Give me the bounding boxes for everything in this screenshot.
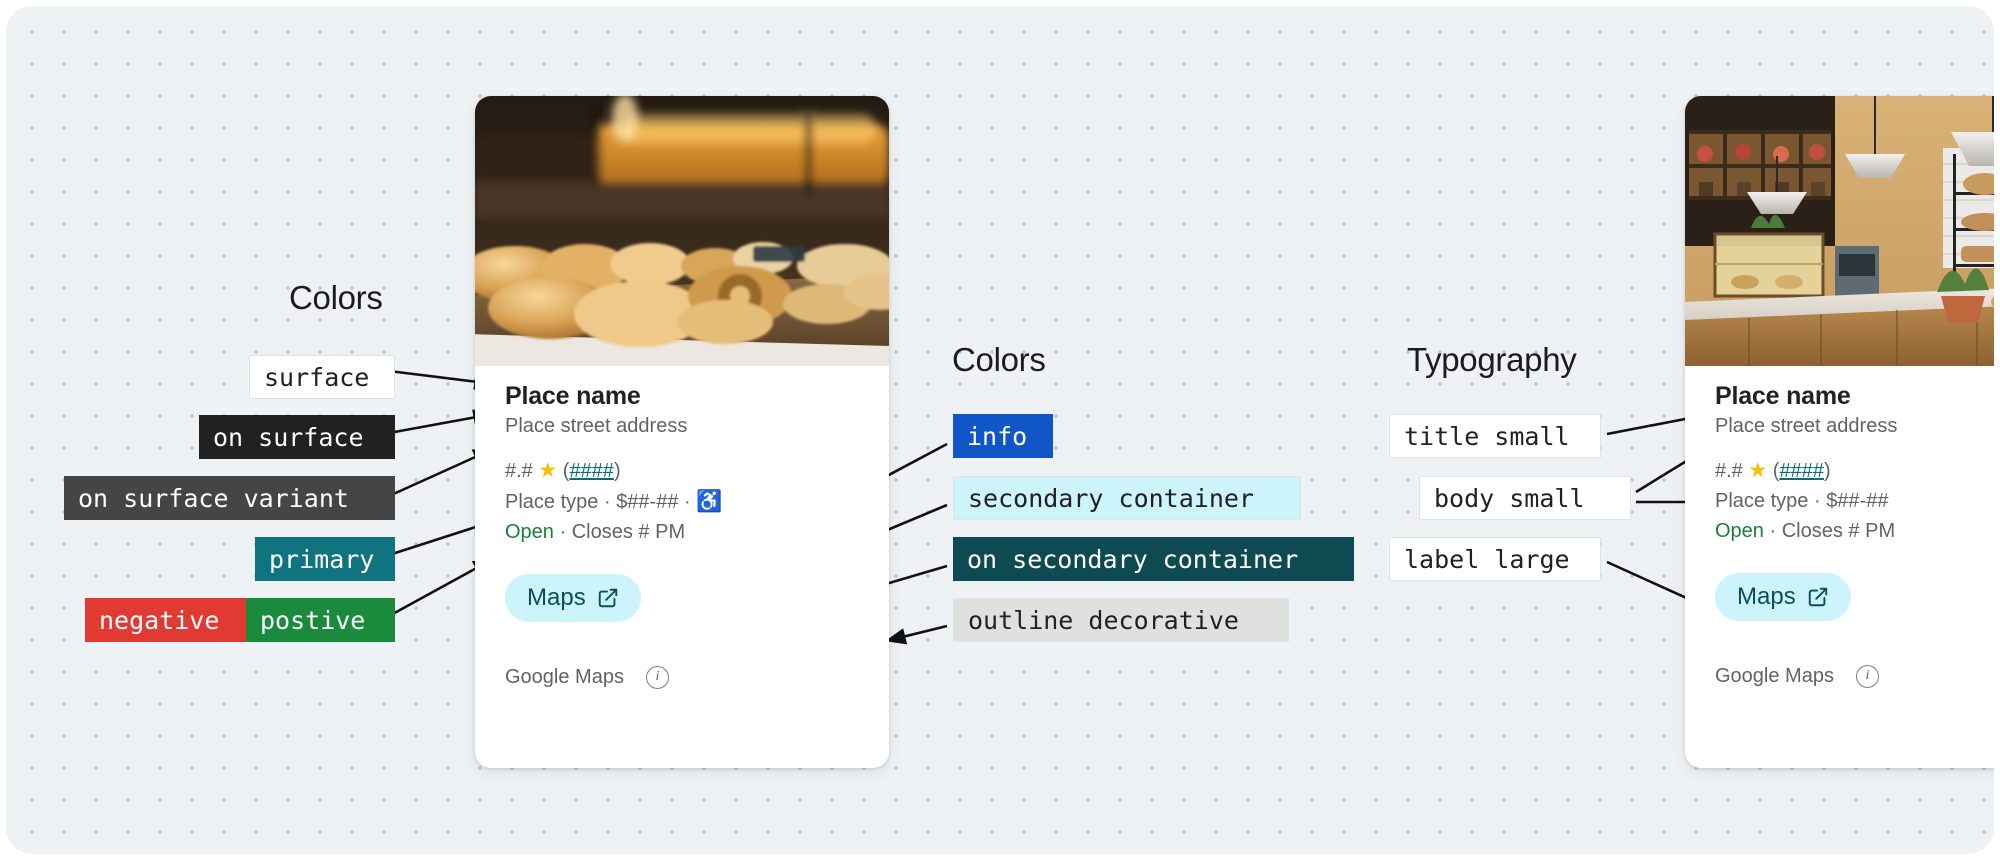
rating-value: #.# — [1715, 460, 1743, 482]
type-token-label: label large — [1404, 547, 1570, 572]
info-circle-icon[interactable]: i — [1856, 665, 1879, 688]
review-count[interactable]: #### — [569, 460, 614, 482]
hours-separator: · — [560, 521, 567, 543]
meta-separator-1: · — [604, 491, 611, 513]
swatch-surface[interactable]: surface — [249, 355, 395, 399]
swatch-label: secondary container — [968, 486, 1254, 511]
swatch-label: info — [967, 424, 1027, 449]
google-maps-attribution: Google Maps — [505, 666, 624, 689]
type-token-body-small[interactable]: body small — [1419, 476, 1631, 520]
type-token-label-large[interactable]: label large — [1389, 537, 1601, 581]
place-type: Place type — [505, 491, 598, 513]
google-maps-attribution: Google Maps — [1715, 665, 1834, 688]
swatch-label: surface — [264, 365, 369, 390]
swatch-label: on surface — [213, 425, 364, 450]
section-title-typography: Typography — [1407, 341, 1576, 379]
screenshot-root: Colors Colors Typography surface on surf… — [0, 0, 2000, 860]
place-meta-row: Place type · $##-## — [1715, 490, 1994, 513]
place-type: Place type — [1715, 490, 1808, 512]
place-card-center[interactable]: Place name Place street address #.# ★ (#… — [475, 96, 889, 768]
arrow-outline-decorative — [886, 626, 947, 641]
open-in-new-icon — [597, 587, 619, 609]
place-street-address: Place street address — [505, 415, 859, 438]
meta-separator-1: · — [1814, 490, 1821, 512]
hours-separator: · — [1770, 520, 1777, 542]
swatch-label: postive — [260, 608, 365, 633]
swatch-postive[interactable]: postive — [246, 598, 395, 642]
star-icon: ★ — [1748, 459, 1767, 482]
maps-button-label: Maps — [1737, 583, 1796, 611]
swatch-outline-decorative[interactable]: outline decorative — [953, 598, 1289, 642]
swatch-secondary-container[interactable]: secondary container — [953, 476, 1301, 520]
card-footer: Google Maps i — [1715, 665, 1994, 688]
closing-time: Closes # PM — [572, 521, 685, 543]
place-photo-cafe: BEBIDAS — [1685, 96, 1994, 366]
type-token-title-small[interactable]: title small — [1389, 414, 1601, 458]
section-title-colors-left: Colors — [289, 279, 383, 317]
price-range: $##-## — [1826, 490, 1888, 512]
swatch-negative[interactable]: negative — [85, 598, 246, 642]
price-range: $##-## — [616, 491, 678, 513]
open-status: Open — [1715, 520, 1764, 542]
type-token-label: title small — [1404, 424, 1570, 449]
rating-value: #.# — [505, 460, 533, 482]
type-token-label: body small — [1434, 486, 1585, 511]
place-card-body: Place name Place street address #.# ★ (#… — [475, 366, 889, 689]
place-street-address: Place street address — [1715, 415, 1994, 438]
open-status: Open — [505, 521, 554, 543]
place-meta-row: Place type · $##-## · ♿ — [505, 490, 859, 514]
swatch-label: primary — [269, 547, 374, 572]
maps-button-label: Maps — [527, 584, 586, 612]
place-photo-bakery — [475, 96, 889, 366]
swatch-label: on secondary container — [967, 547, 1298, 572]
review-paren-close: ) — [614, 460, 621, 482]
place-hours-row: Open · Closes # PM — [1715, 520, 1994, 543]
star-icon: ★ — [538, 459, 557, 482]
place-name: Place name — [1715, 382, 1994, 411]
maps-button[interactable]: Maps — [1715, 573, 1851, 621]
meta-separator-2: · — [684, 491, 691, 513]
place-name: Place name — [505, 382, 859, 411]
review-paren-close: ) — [1824, 460, 1831, 482]
design-canvas: Colors Colors Typography surface on surf… — [6, 6, 1994, 854]
swatch-on-surface[interactable]: on surface — [199, 415, 395, 459]
open-in-new-icon — [1807, 586, 1829, 608]
review-count[interactable]: #### — [1779, 460, 1824, 482]
swatch-label: negative — [99, 608, 219, 633]
place-card-body: Place name Place street address #.# ★ (#… — [1685, 366, 1994, 688]
place-card-right[interactable]: BEBIDAS — [1685, 96, 1994, 768]
swatch-on-secondary-container[interactable]: on secondary container — [953, 537, 1354, 581]
place-rating-row: #.# ★ (####) — [505, 458, 859, 483]
swatch-on-surface-variant[interactable]: on surface variant — [64, 476, 395, 520]
info-circle-icon[interactable]: i — [646, 666, 669, 689]
swatch-label: on surface variant — [78, 486, 349, 511]
swatch-label: outline decorative — [968, 608, 1239, 633]
swatch-info[interactable]: info — [953, 414, 1053, 458]
wheelchair-accessible-icon: ♿ — [696, 490, 722, 513]
card-footer: Google Maps i — [505, 666, 859, 689]
swatch-primary[interactable]: primary — [255, 537, 395, 581]
closing-time: Closes # PM — [1782, 520, 1895, 542]
section-title-colors-mid: Colors — [952, 341, 1046, 379]
place-hours-row: Open · Closes # PM — [505, 521, 859, 544]
maps-button[interactable]: Maps — [505, 574, 641, 622]
place-rating-row: #.# ★ (####) — [1715, 458, 1994, 483]
